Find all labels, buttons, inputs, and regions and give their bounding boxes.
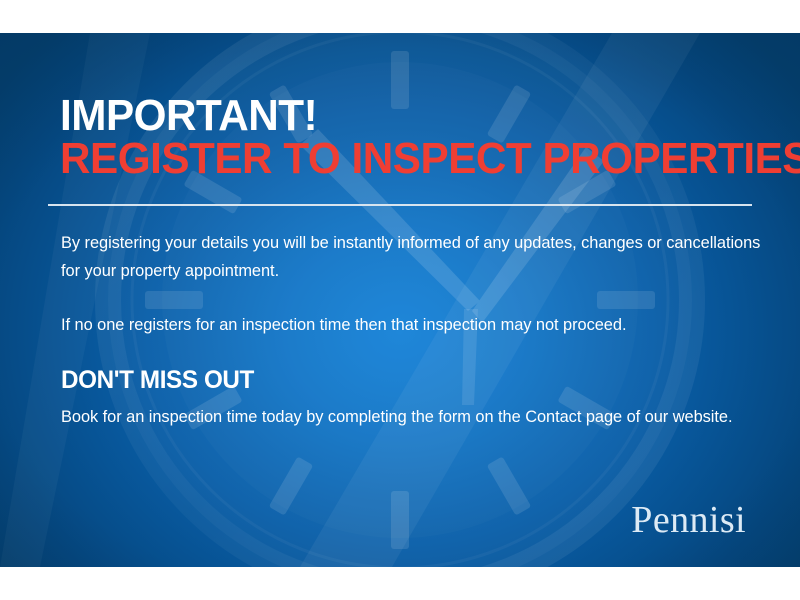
headline-primary: IMPORTANT! xyxy=(60,95,800,138)
notice-panel: IMPORTANT! REGISTER TO INSPECT PROPERTIE… xyxy=(0,33,800,567)
notice-content: IMPORTANT! REGISTER TO INSPECT PROPERTIE… xyxy=(0,33,800,567)
pennisi-logo: Pennisi xyxy=(631,501,746,539)
body-block: By registering your details you will be … xyxy=(61,229,761,431)
headline-block: IMPORTANT! REGISTER TO INSPECT PROPERTIE… xyxy=(60,95,800,180)
body-subheading: DON'T MISS OUT xyxy=(61,366,740,395)
divider-rule xyxy=(48,204,752,206)
poster-canvas: IMPORTANT! REGISTER TO INSPECT PROPERTIE… xyxy=(0,0,800,600)
body-paragraph-1: By registering your details you will be … xyxy=(61,229,761,285)
body-paragraph-2: If no one registers for an inspection ti… xyxy=(61,311,761,339)
body-paragraph-3: Book for an inspection time today by com… xyxy=(61,403,761,431)
headline-secondary: REGISTER TO INSPECT PROPERTIES xyxy=(60,138,800,181)
